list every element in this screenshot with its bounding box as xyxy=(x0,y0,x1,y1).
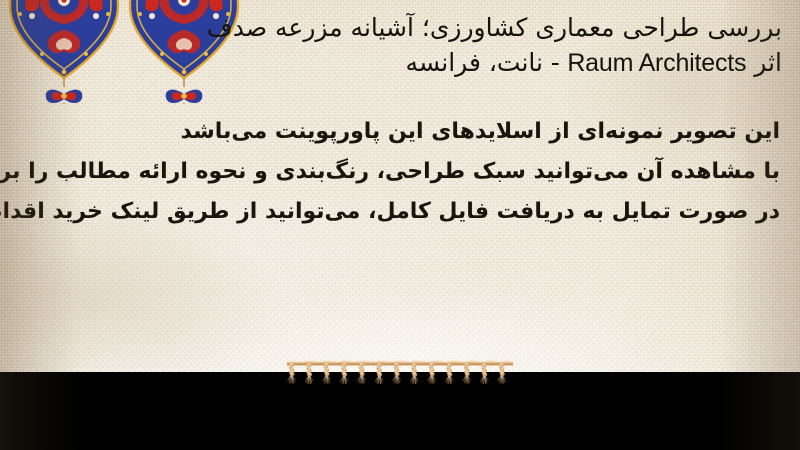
presentation-slide: بررسی طراحی معماری کشاورزی؛ آشیانه مزرعه… xyxy=(0,0,800,450)
fringe-cord-and-knots-icon xyxy=(0,358,800,384)
rug-fringe-tassels xyxy=(0,358,800,450)
persian-medallion-pendant-left-icon xyxy=(6,0,122,104)
persian-medallion-pendant-right-icon xyxy=(126,0,242,104)
